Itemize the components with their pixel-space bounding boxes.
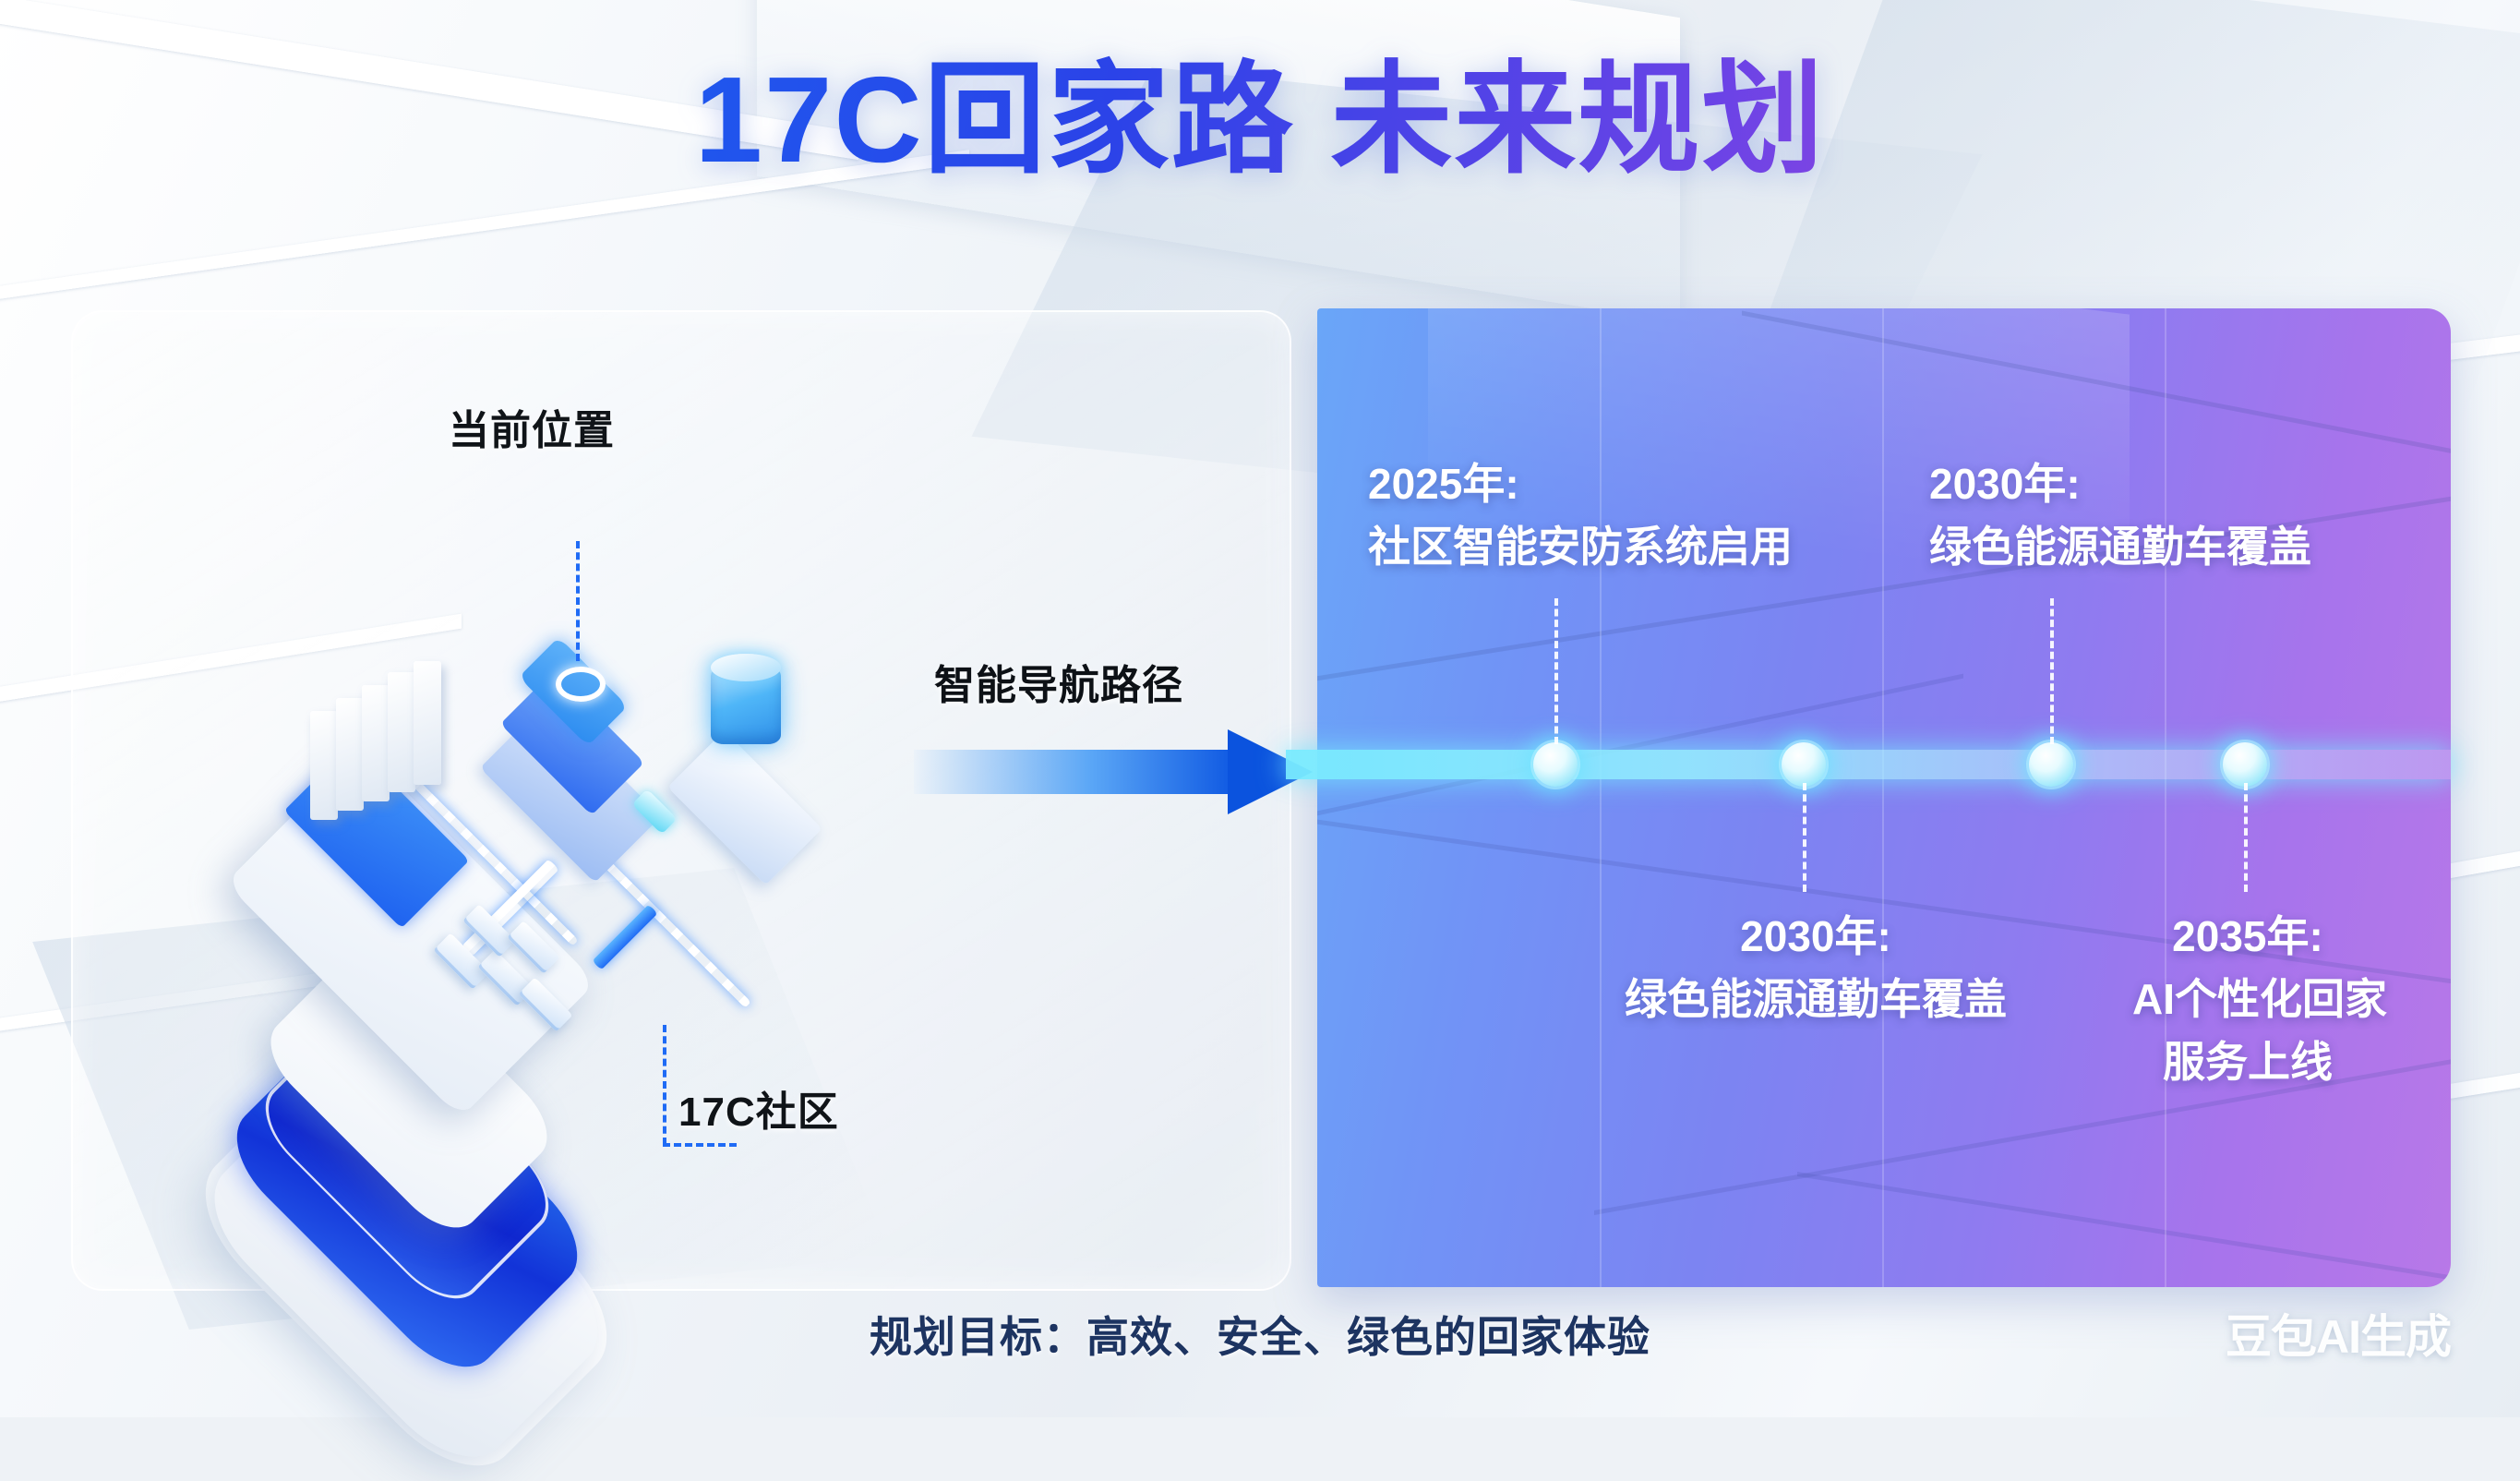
tower-bar bbox=[310, 711, 338, 820]
tower-bar bbox=[336, 698, 364, 811]
nav-arrow-icon bbox=[914, 729, 1311, 814]
leader-line-community-h bbox=[663, 1143, 737, 1147]
panel-facet bbox=[1317, 674, 1963, 816]
timeline-node-1[interactable] bbox=[1533, 742, 1578, 787]
timeline-item-2: 2030年: 绿色能源通勤车覆盖 bbox=[1625, 905, 2007, 1030]
timeline-stem-1 bbox=[1554, 598, 1558, 744]
timeline-node-2[interactable] bbox=[1782, 742, 1826, 787]
label-community: 17C社区 bbox=[678, 1078, 839, 1138]
timeline-item-3-year: 2030年: bbox=[1929, 452, 2311, 515]
panel-divider bbox=[1882, 308, 1884, 1287]
timeline-item-3: 2030年: 绿色能源通勤车覆盖 bbox=[1929, 452, 2311, 578]
timeline-item-1-year: 2025年: bbox=[1368, 452, 1793, 515]
label-current-location: 当前位置 bbox=[449, 397, 615, 456]
timeline-item-4-desc2: 服务上线 bbox=[2132, 1030, 2363, 1093]
footer-goal-text: 规划目标：高效、安全、绿色的回家体验 bbox=[0, 1304, 2520, 1365]
timeline-item-4-desc: AI个性化回家 bbox=[2132, 968, 2363, 1030]
timeline-item-4-year: 2035年: bbox=[2132, 905, 2363, 968]
cylinder-tower-cap bbox=[711, 654, 781, 681]
location-pin-icon bbox=[556, 667, 606, 702]
timeline-stem-4 bbox=[2244, 783, 2248, 892]
page-title: 17C回家路 未来规划 bbox=[0, 52, 2520, 188]
timeline-item-4: 2035年: AI个性化回家 服务上线 bbox=[2132, 905, 2363, 1093]
timeline-item-2-desc: 绿色能源通勤车覆盖 bbox=[1625, 968, 2007, 1030]
leader-line-current-location bbox=[576, 541, 580, 661]
timeline-stem-3 bbox=[2050, 598, 2054, 744]
timeline-node-4[interactable] bbox=[2223, 742, 2267, 787]
leader-line-community bbox=[663, 1025, 666, 1145]
timeline-node-3[interactable] bbox=[2029, 742, 2073, 787]
timeline-stem-2 bbox=[1803, 783, 1806, 892]
timeline-item-3-desc: 绿色能源通勤车覆盖 bbox=[1929, 515, 2311, 578]
road-segment bbox=[592, 904, 657, 969]
timeline-item-2-year: 2030年: bbox=[1625, 905, 2007, 968]
label-nav-path: 智能导航路径 bbox=[934, 652, 1183, 711]
tower-bar bbox=[388, 672, 415, 792]
cylinder-tower-base bbox=[667, 730, 822, 885]
panel-facet bbox=[1797, 1172, 2451, 1287]
tower-bar bbox=[362, 685, 390, 801]
arrow-shaft bbox=[914, 750, 1237, 794]
timeline-axis bbox=[1286, 750, 2451, 779]
timeline-item-1: 2025年: 社区智能安防系统启用 bbox=[1368, 452, 1793, 578]
watermark-label: 豆包AI生成 bbox=[2226, 1300, 2451, 1367]
tower-bar bbox=[414, 661, 441, 785]
timeline-item-1-desc: 社区智能安防系统启用 bbox=[1368, 515, 1793, 578]
isometric-city-illustration bbox=[102, 434, 914, 1154]
